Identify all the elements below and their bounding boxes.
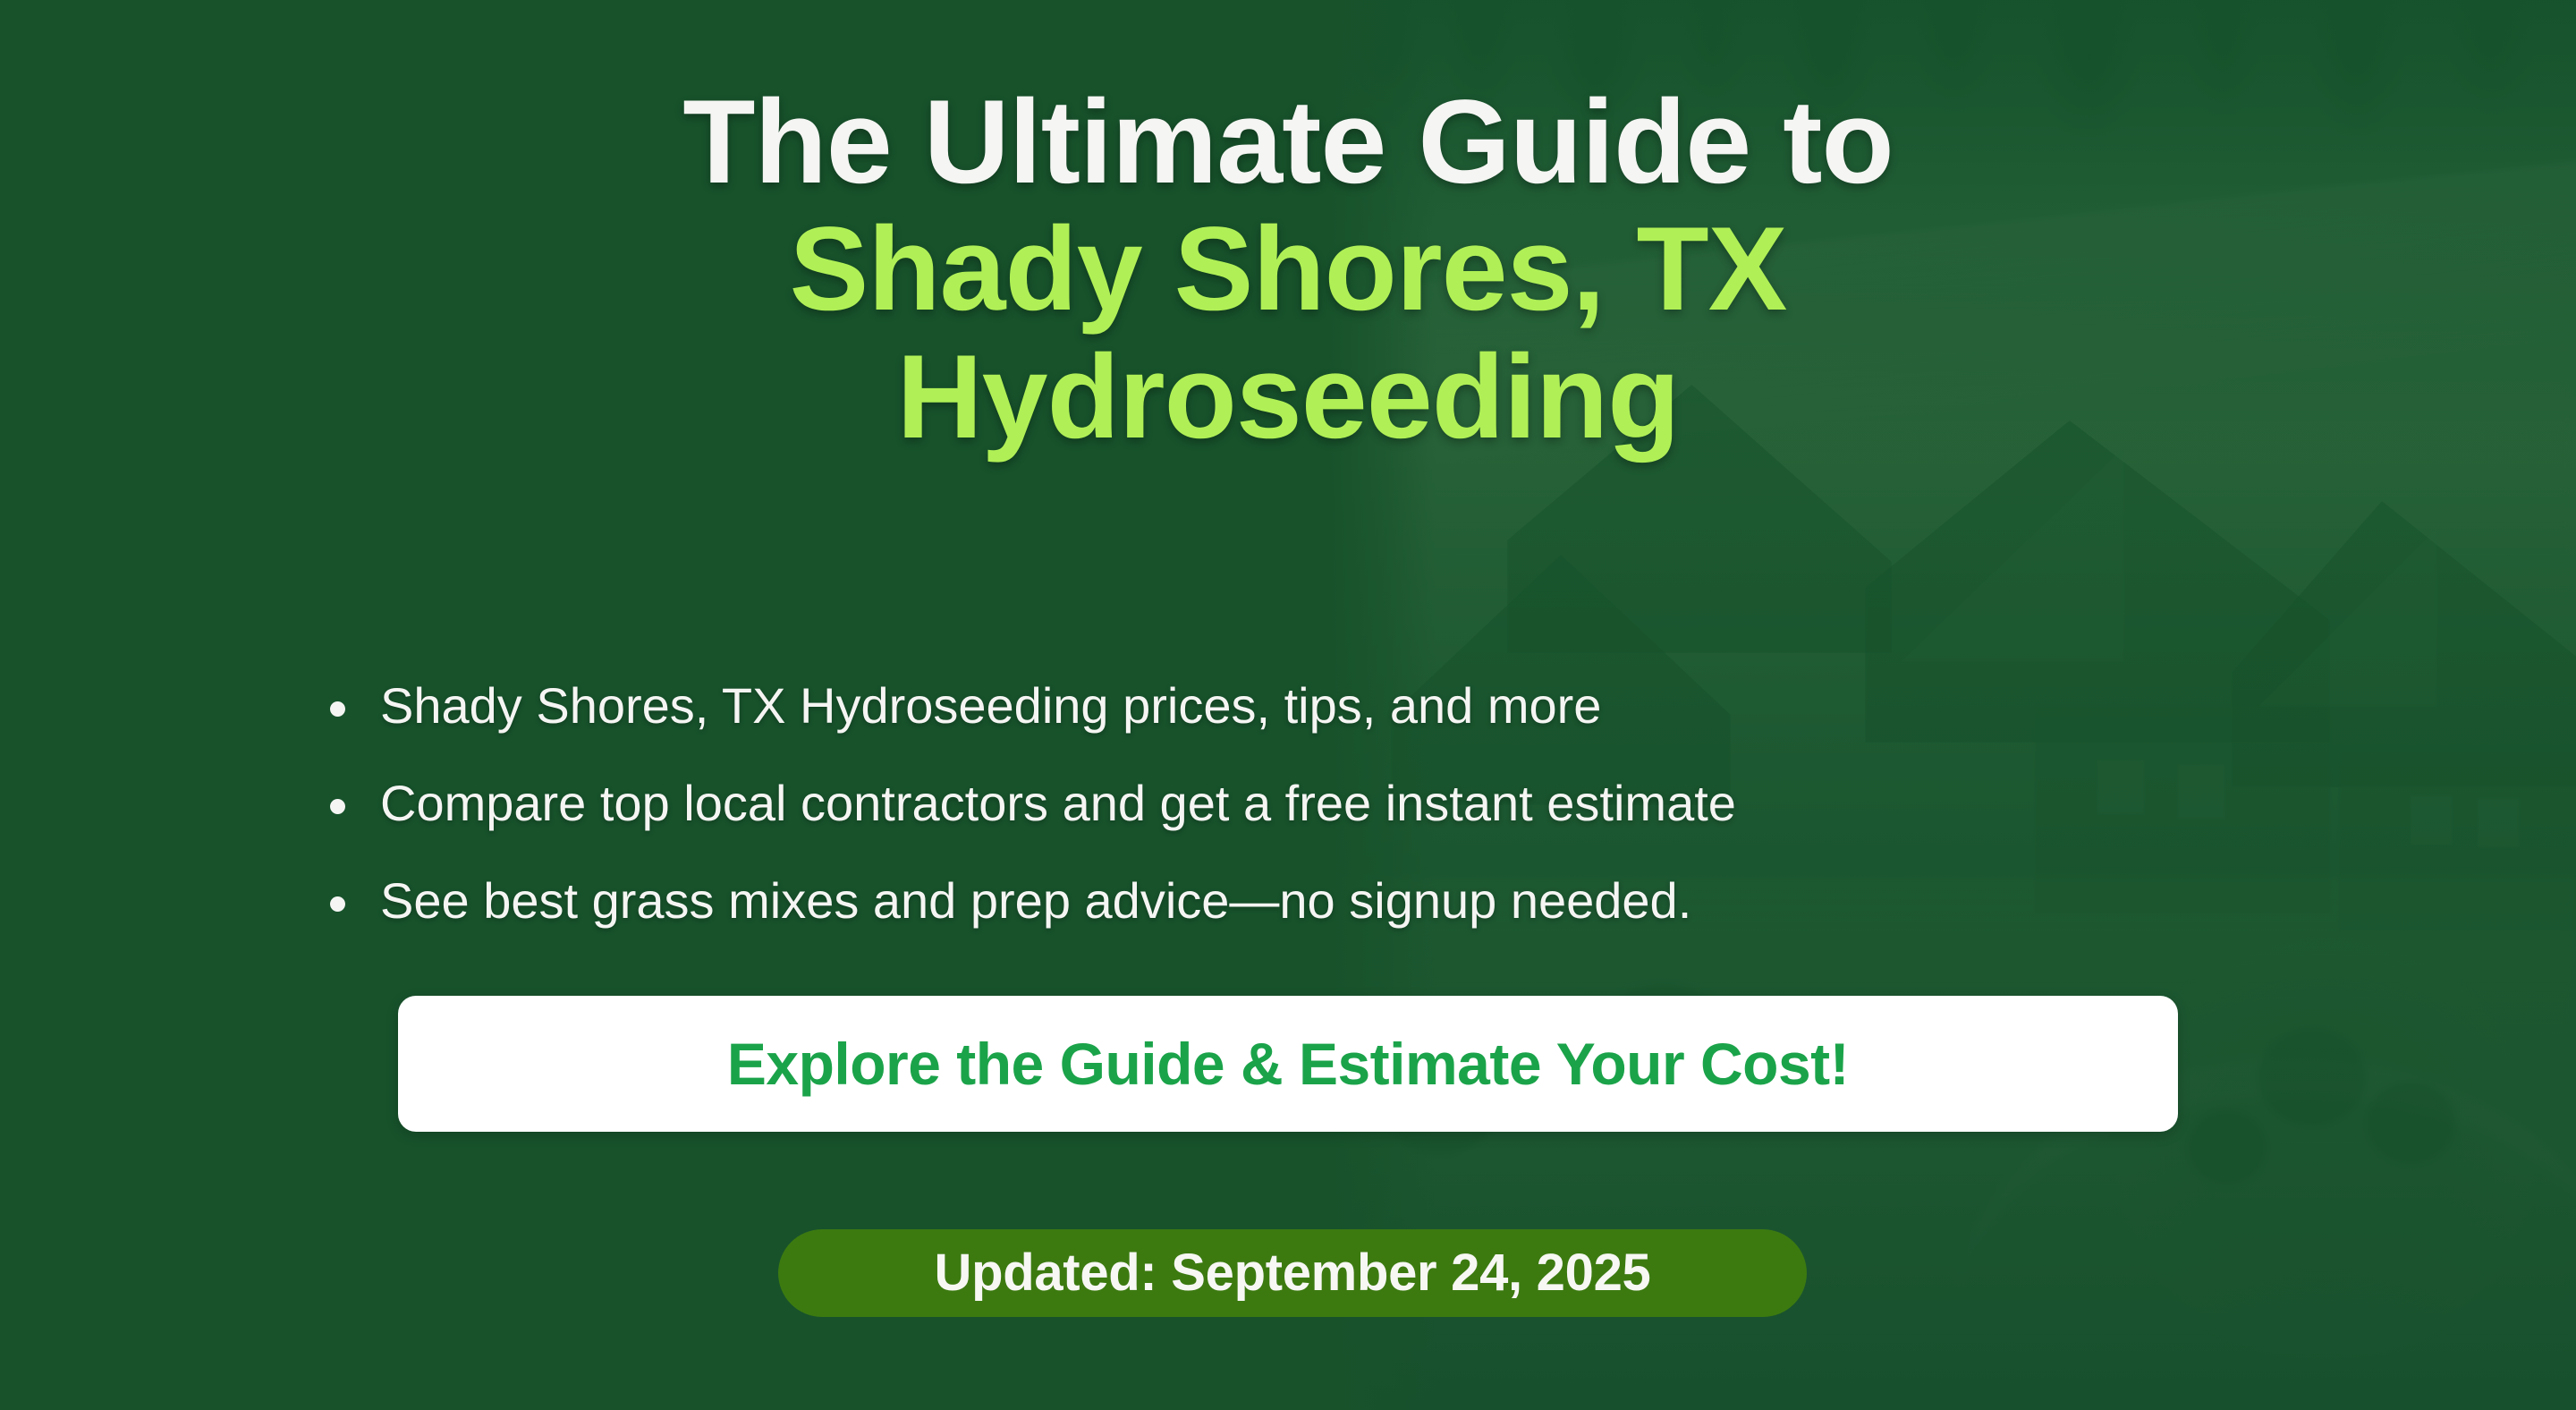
hero-banner: The Ultimate Guide to Shady Shores, TX H… xyxy=(0,0,2576,1410)
list-item: See best grass mixes and prep advice—no … xyxy=(326,875,2294,928)
headline-line-1: The Ultimate Guide to xyxy=(682,76,1893,208)
page-title: The Ultimate Guide to Shady Shores, TX H… xyxy=(0,79,2576,461)
headline-line-3: Hydroseeding xyxy=(206,334,2370,461)
banner-content: The Ultimate Guide to Shady Shores, TX H… xyxy=(0,0,2576,1410)
list-item: Compare top local contractors and get a … xyxy=(326,777,2294,830)
list-item: Shady Shores, TX Hydroseeding prices, ti… xyxy=(326,680,2294,733)
explore-guide-cta-button[interactable]: Explore the Guide & Estimate Your Cost! xyxy=(398,996,2178,1132)
headline-line-2: Shady Shores, TX xyxy=(206,206,2370,333)
benefit-list: Shady Shores, TX Hydroseeding prices, ti… xyxy=(326,680,2294,972)
updated-date-badge: Updated: September 24, 2025 xyxy=(778,1229,1807,1317)
